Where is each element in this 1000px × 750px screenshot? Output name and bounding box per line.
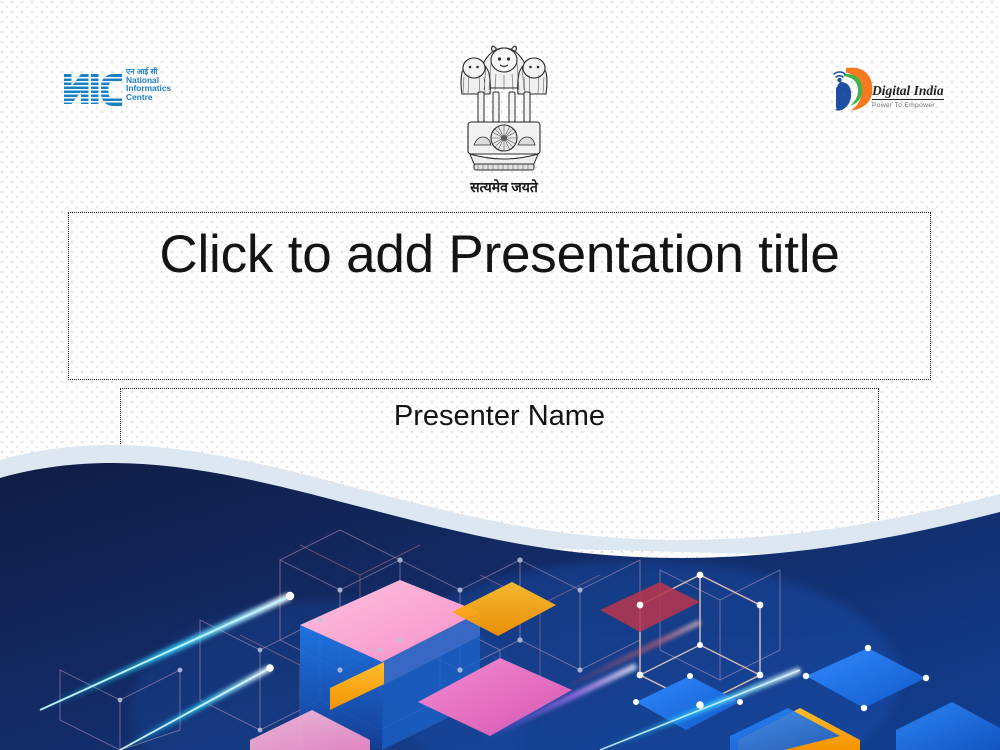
digital-india-logo-text: Digital India Power To Empower xyxy=(872,82,944,109)
digital-india-logo-mark xyxy=(832,64,876,112)
isometric-cubes-graphic xyxy=(0,440,1000,750)
subtitle-placeholder-text: Presenter Name xyxy=(121,398,878,434)
digital-india-logo: Digital India Power To Empower xyxy=(832,62,950,114)
nic-logo-line3: Centre xyxy=(126,93,171,102)
title-placeholder[interactable]: Click to add Presentation title xyxy=(68,212,931,380)
nic-logo: एन आई सी National Informatics Centre xyxy=(64,68,184,110)
presentation-title-slide: एन आई सी National Informatics Centre xyxy=(0,0,1000,750)
title-placeholder-text: Click to add Presentation title xyxy=(69,223,930,288)
digital-india-tagline: Power To Empower xyxy=(872,102,944,109)
nic-logo-text: एन आई सी National Informatics Centre xyxy=(126,68,171,101)
digital-india-name: Digital India xyxy=(872,84,944,100)
decorative-artwork xyxy=(0,440,1000,750)
emblem-caption: सत्यमेव जयते xyxy=(448,178,560,197)
nic-logo-mark xyxy=(64,72,122,106)
